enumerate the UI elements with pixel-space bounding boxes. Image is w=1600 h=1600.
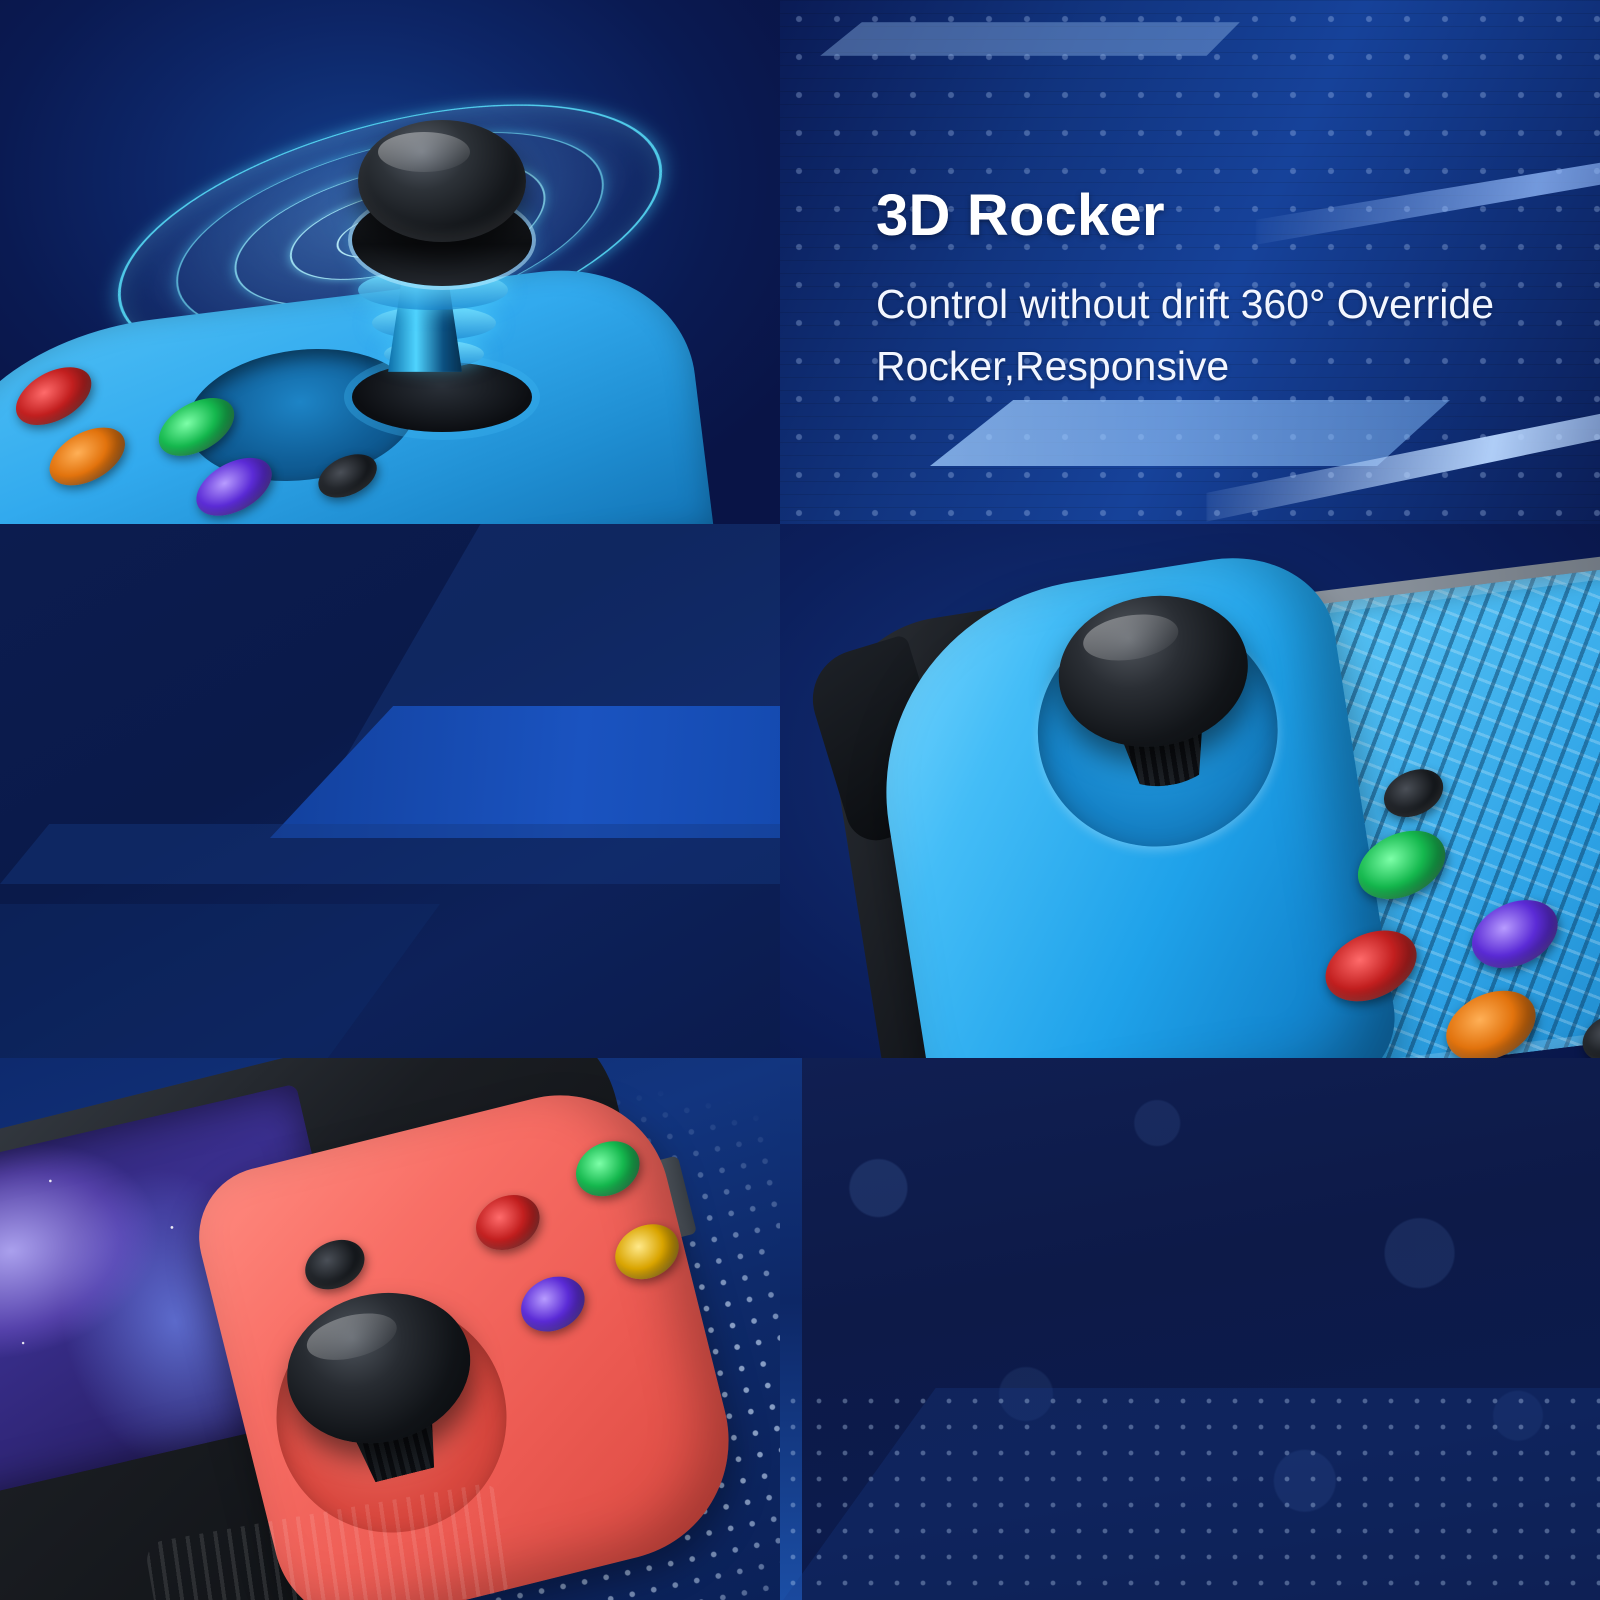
accent-band-top	[820, 22, 1240, 56]
rocker-product-image	[0, 0, 780, 524]
console-button-purple	[512, 1266, 594, 1342]
facet-shape-1	[330, 524, 780, 784]
bokeh-texture	[780, 1058, 1600, 1600]
thumbstick-cap	[1048, 582, 1259, 760]
console-small-button	[297, 1230, 373, 1299]
borderless-text-panel: Boraderless Design Let's in-game Adjust …	[780, 1058, 1600, 1600]
rocker-text-panel: 3D Rocker Control without drift 360° Ove…	[780, 0, 1600, 524]
thumbstick	[1048, 582, 1265, 799]
face-button-red	[6, 355, 101, 437]
console-button-red	[467, 1185, 549, 1261]
rocker-title: 3D Rocker	[876, 186, 1556, 247]
joystick-base	[352, 362, 532, 432]
keys-product-image	[780, 524, 1600, 1058]
rocker-body-line-2: Rocker,Responsive	[876, 335, 1556, 397]
facet-highlight-band	[270, 706, 780, 838]
handheld-console-graphic	[0, 1058, 780, 1600]
accent-band-bottom	[930, 400, 1450, 466]
facet-shape	[780, 1388, 1600, 1600]
rocker-body: Control without drift 360° Override Rock…	[876, 273, 1556, 398]
joystick-module	[300, 120, 530, 420]
left-edge-stripe	[780, 1058, 802, 1600]
feature-board: 3D Rocker Control without drift 360° Ove…	[0, 0, 1600, 1600]
rocker-copy: 3D Rocker Control without drift 360° Ove…	[876, 186, 1556, 398]
facet-shape-3	[0, 824, 780, 884]
controller-closeup-graphic	[783, 524, 1600, 1058]
borderless-product-image	[0, 1058, 780, 1600]
dot-grid-texture	[780, 1388, 1600, 1600]
face-button-orange	[40, 416, 135, 498]
joystick-cap	[358, 120, 526, 242]
facet-shape-4	[0, 904, 440, 1058]
console-button-green	[567, 1131, 649, 1207]
thumbstick-cap	[271, 1274, 486, 1462]
rocker-body-line-1: Control without drift 360° Override	[876, 273, 1556, 335]
keys-text-panel: Delicate keey The keys are backlit ,The …	[0, 524, 780, 1058]
console-button-yellow	[606, 1214, 688, 1290]
